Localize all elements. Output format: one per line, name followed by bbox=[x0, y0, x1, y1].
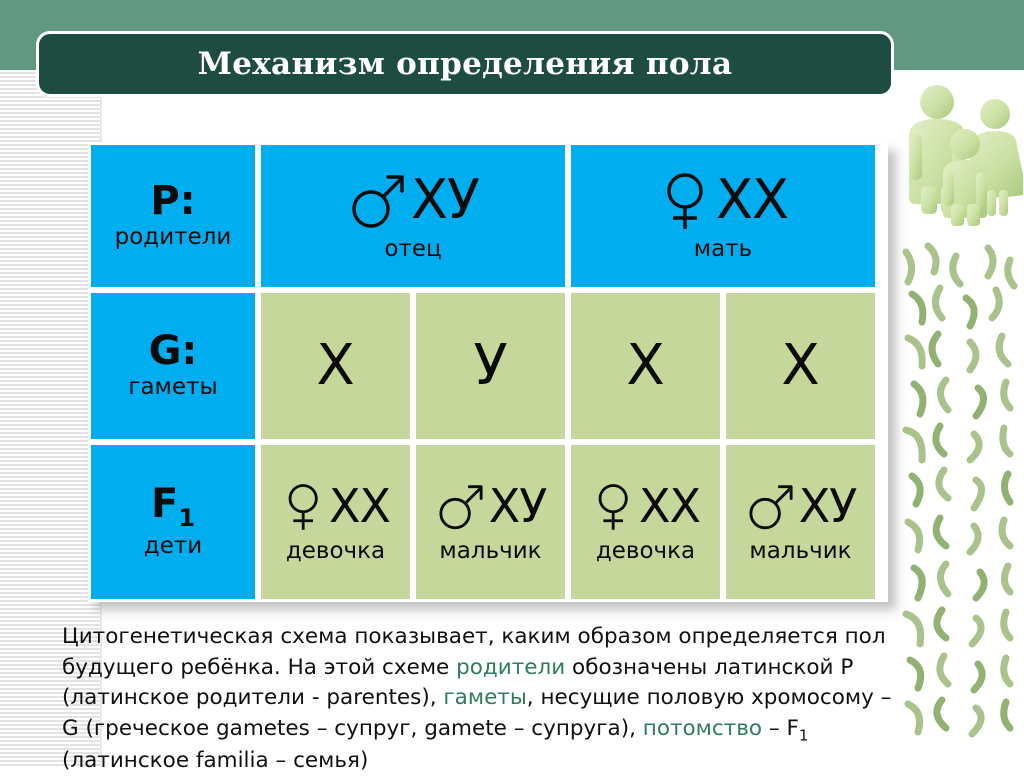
family-silhouettes-icon bbox=[895, 78, 1023, 238]
title-bar: Механизм определения пола bbox=[36, 31, 894, 97]
gamete-text: Х bbox=[626, 338, 664, 394]
gamete-text: У bbox=[473, 338, 507, 394]
row-label-subscript: 1 bbox=[178, 504, 195, 532]
female-symbol-icon bbox=[281, 479, 327, 533]
cell-mother: ХХ мать bbox=[568, 142, 878, 290]
genotype-text: ХУ bbox=[411, 173, 479, 227]
genotype-line: ХХ bbox=[281, 479, 390, 533]
row-label-sub: родители bbox=[115, 225, 232, 250]
table-row: P: родители ХУ отец bbox=[88, 142, 888, 290]
male-symbol-icon bbox=[435, 479, 487, 533]
cell-offspring-boy: ХУ мальчик bbox=[413, 442, 568, 602]
table-row: G: гаметы Х У Х Х bbox=[88, 290, 888, 442]
cell-gamete: Х bbox=[568, 290, 723, 442]
cell-gamete: У bbox=[413, 290, 568, 442]
row-label-letter: F bbox=[151, 481, 178, 527]
highlight-gametes: гаметы bbox=[443, 685, 526, 710]
paragraph-segment: (латинское familia – семья) bbox=[62, 748, 368, 773]
row-label-main: P: bbox=[150, 181, 195, 221]
gamete-text: Х bbox=[781, 338, 819, 394]
paragraph-segment: – F bbox=[762, 716, 799, 741]
female-symbol-icon bbox=[591, 479, 637, 533]
paragraph-subscript: 1 bbox=[799, 726, 809, 744]
row-label-sub: дети bbox=[144, 534, 202, 559]
cell-caption: мальчик bbox=[749, 539, 851, 564]
male-symbol-icon bbox=[745, 479, 797, 533]
chromosome-spread-icon bbox=[896, 238, 1024, 767]
cytogenetic-scheme-table: P: родители ХУ отец bbox=[88, 142, 888, 602]
cell-gamete: Х bbox=[258, 290, 413, 442]
female-symbol-icon bbox=[658, 169, 714, 231]
genotype-text: ХХ bbox=[716, 173, 788, 227]
row-label-main: G: bbox=[149, 331, 198, 371]
cell-offspring-boy: ХУ мальчик bbox=[723, 442, 878, 602]
cell-father: ХУ отец bbox=[258, 142, 568, 290]
cell-caption: мать bbox=[694, 237, 752, 262]
row-label-gametes: G: гаметы bbox=[88, 290, 258, 442]
genotype-text: ХУ bbox=[489, 483, 547, 529]
genotype-line: ХУ bbox=[745, 479, 857, 533]
genotype-text: ХХ bbox=[329, 483, 390, 529]
highlight-parents: родители bbox=[456, 655, 565, 680]
description-paragraph: Цитогенетическая схема показывает, каким… bbox=[62, 622, 902, 777]
genotype-line: ХХ bbox=[658, 169, 788, 231]
genotype-line: ХУ bbox=[347, 169, 479, 231]
cell-gamete: Х bbox=[723, 290, 878, 442]
genotype-text: ХУ bbox=[799, 483, 857, 529]
male-symbol-icon bbox=[347, 169, 409, 231]
cell-caption: девочка bbox=[596, 539, 695, 564]
genotype-text: ХХ bbox=[639, 483, 700, 529]
gamete-text: Х bbox=[316, 338, 354, 394]
cell-caption: мальчик bbox=[439, 539, 541, 564]
genotype-line: ХХ bbox=[591, 479, 700, 533]
cell-offspring-girl: ХХ девочка bbox=[568, 442, 723, 602]
row-label-sub: гаметы bbox=[128, 375, 217, 400]
highlight-offspring: потомство bbox=[643, 716, 762, 741]
row-label-offspring: F1 дети bbox=[88, 442, 258, 602]
table-row: F1 дети ХХ девочка bbox=[88, 442, 888, 602]
cell-offspring-girl: ХХ девочка bbox=[258, 442, 413, 602]
cell-caption: отец bbox=[384, 237, 441, 262]
cell-caption: девочка bbox=[286, 539, 385, 564]
page-title: Механизм определения пола bbox=[198, 46, 733, 82]
genotype-line: ХУ bbox=[435, 479, 547, 533]
slide-canvas: Механизм определения пола P: родители ХУ… bbox=[0, 0, 1024, 767]
row-label-main: F1 bbox=[151, 484, 195, 530]
row-label-parents: P: родители bbox=[88, 142, 258, 290]
